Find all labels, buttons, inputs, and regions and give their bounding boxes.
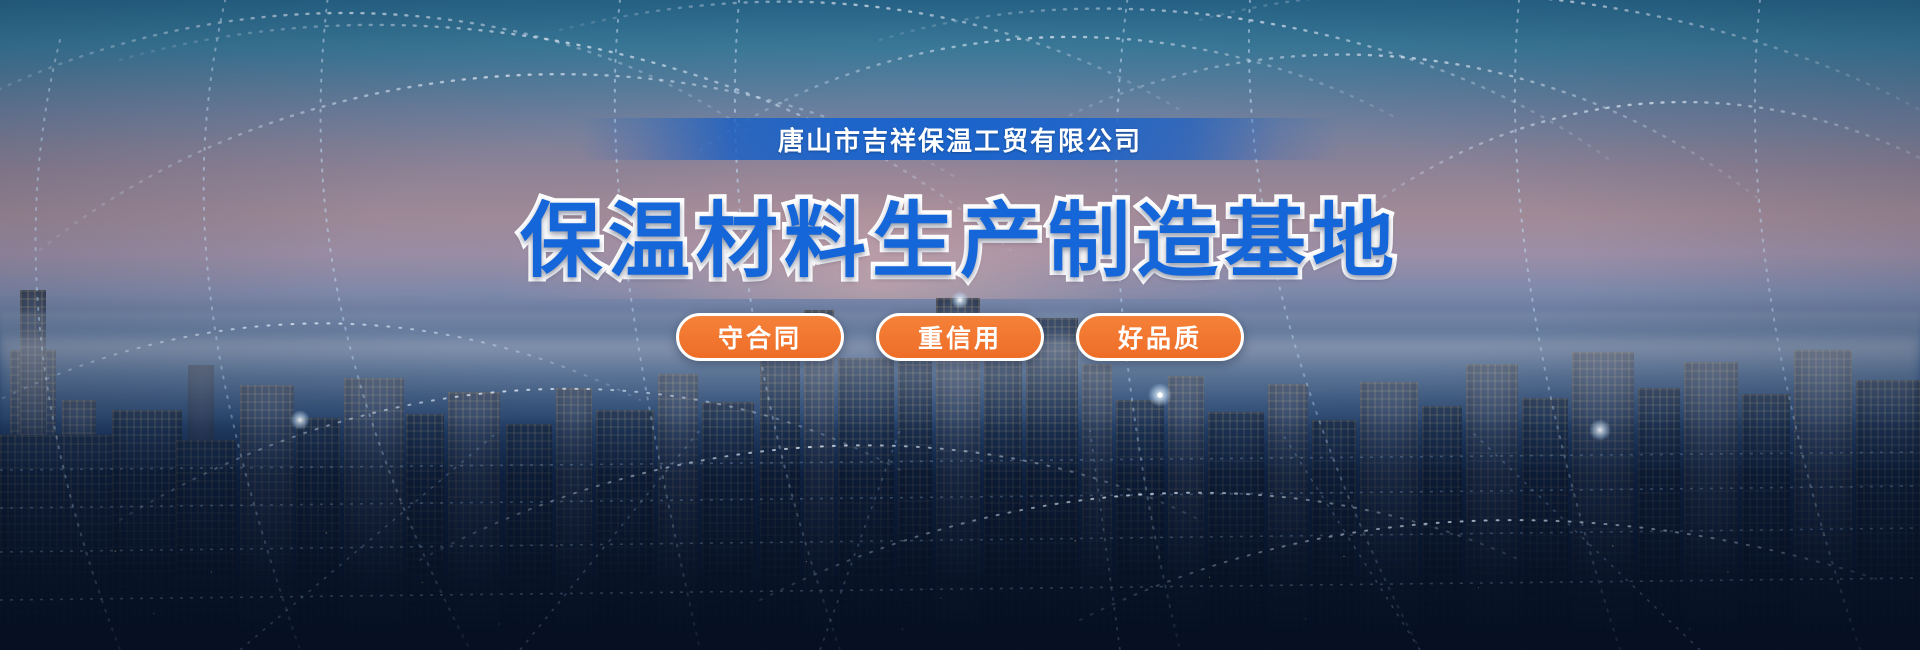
badge-zhongxinyong[interactable]: 重信用 bbox=[876, 313, 1044, 361]
company-name: 唐山市吉祥保温工贸有限公司 bbox=[778, 121, 1142, 158]
badge-label: 好品质 bbox=[1118, 319, 1202, 355]
badge-shouhetong[interactable]: 守合同 bbox=[676, 313, 844, 361]
badge-label: 重信用 bbox=[918, 319, 1002, 355]
page-title: 保温材料生产制造基地 bbox=[520, 174, 1400, 293]
badge-haopinzhi[interactable]: 好品质 bbox=[1076, 313, 1244, 361]
banner-content: 唐山市吉祥保温工贸有限公司 保温材料生产制造基地 守合同 重信用 好品质 bbox=[0, 0, 1920, 650]
badge-label: 守合同 bbox=[718, 319, 802, 355]
badge-list: 守合同 重信用 好品质 bbox=[676, 313, 1244, 361]
company-name-bar: 唐山市吉祥保温工贸有限公司 bbox=[579, 118, 1341, 160]
hero-banner: 唐山市吉祥保温工贸有限公司 保温材料生产制造基地 守合同 重信用 好品质 bbox=[0, 0, 1920, 650]
